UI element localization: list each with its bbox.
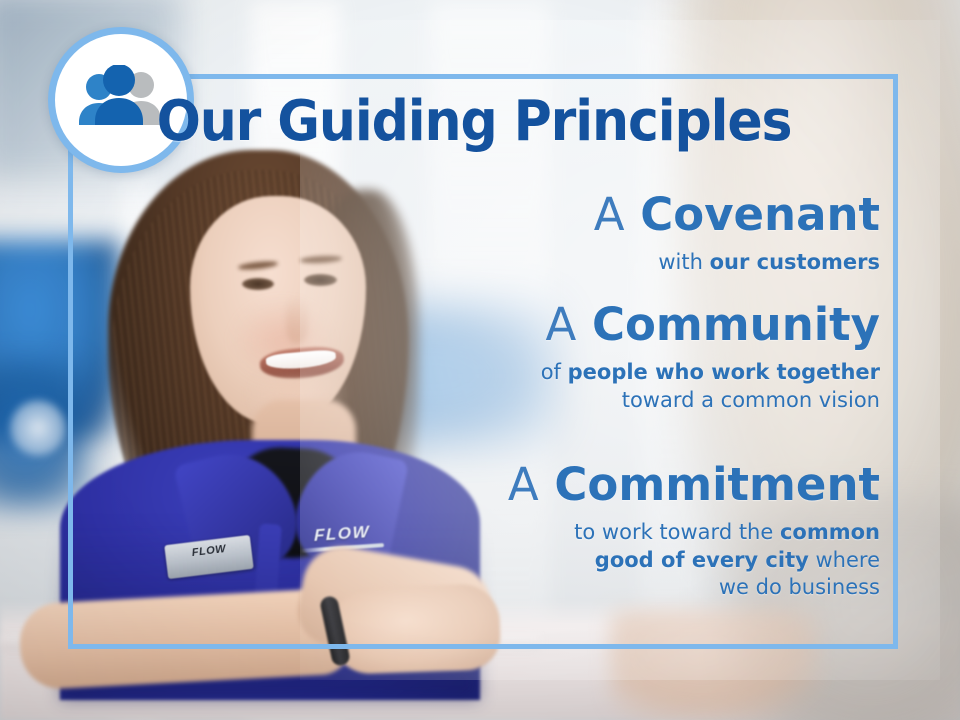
principle-article: A [594,188,625,241]
principle-keyword: Community [592,298,880,351]
principle-subtext-emphasis: people who work together [568,360,880,384]
principle-subtext-line: to work toward the common [508,519,880,547]
principle-community: A Community of people who work togethert… [541,302,880,414]
principle-keyword: Commitment [554,458,880,511]
car-emblem-blur [10,400,66,456]
principle-subtext-line: toward a common vision [541,387,880,415]
principle-subtext-emphasis: our customers [710,250,880,274]
principle-subtext-line: we do business [508,574,880,602]
principle-covenant: A Covenant with our customers [594,192,880,277]
principle-article: A [508,458,539,511]
principle-commitment: A Commitment to work toward the commongo… [508,462,880,602]
principle-subtext-plain: with [658,250,709,274]
text-content: Our Guiding Principles A Covenant with o… [68,74,898,649]
principle-subtext: to work toward the commongood of every c… [508,519,880,602]
principle-subtext-line: good of every city where [508,547,880,575]
principle-subtext-plain: to work toward the [574,520,780,544]
principle-subtext-line: of people who work together [541,359,880,387]
principle-keyword: Covenant [640,188,880,241]
principle-heading: A Commitment [508,462,880,509]
poster: FLOW FLOW Our Guiding Principles [0,0,960,720]
principle-subtext-plain: we do business [719,575,880,599]
principle-subtext: of people who work togethertoward a comm… [541,359,880,414]
principle-subtext-plain: toward a common vision [622,388,880,412]
principle-subtext-emphasis: common [780,520,880,544]
principle-subtext-plain: of [541,360,568,384]
principle-subtext-line: with our customers [594,249,880,277]
principle-subtext-emphasis: good of every city [595,548,809,572]
principle-subtext: with our customers [594,249,880,277]
principle-heading: A Community [541,302,880,349]
page-title: Our Guiding Principles [96,94,851,150]
principle-article: A [545,298,576,351]
principle-subtext-plain: where [809,548,880,572]
principle-heading: A Covenant [594,192,880,239]
